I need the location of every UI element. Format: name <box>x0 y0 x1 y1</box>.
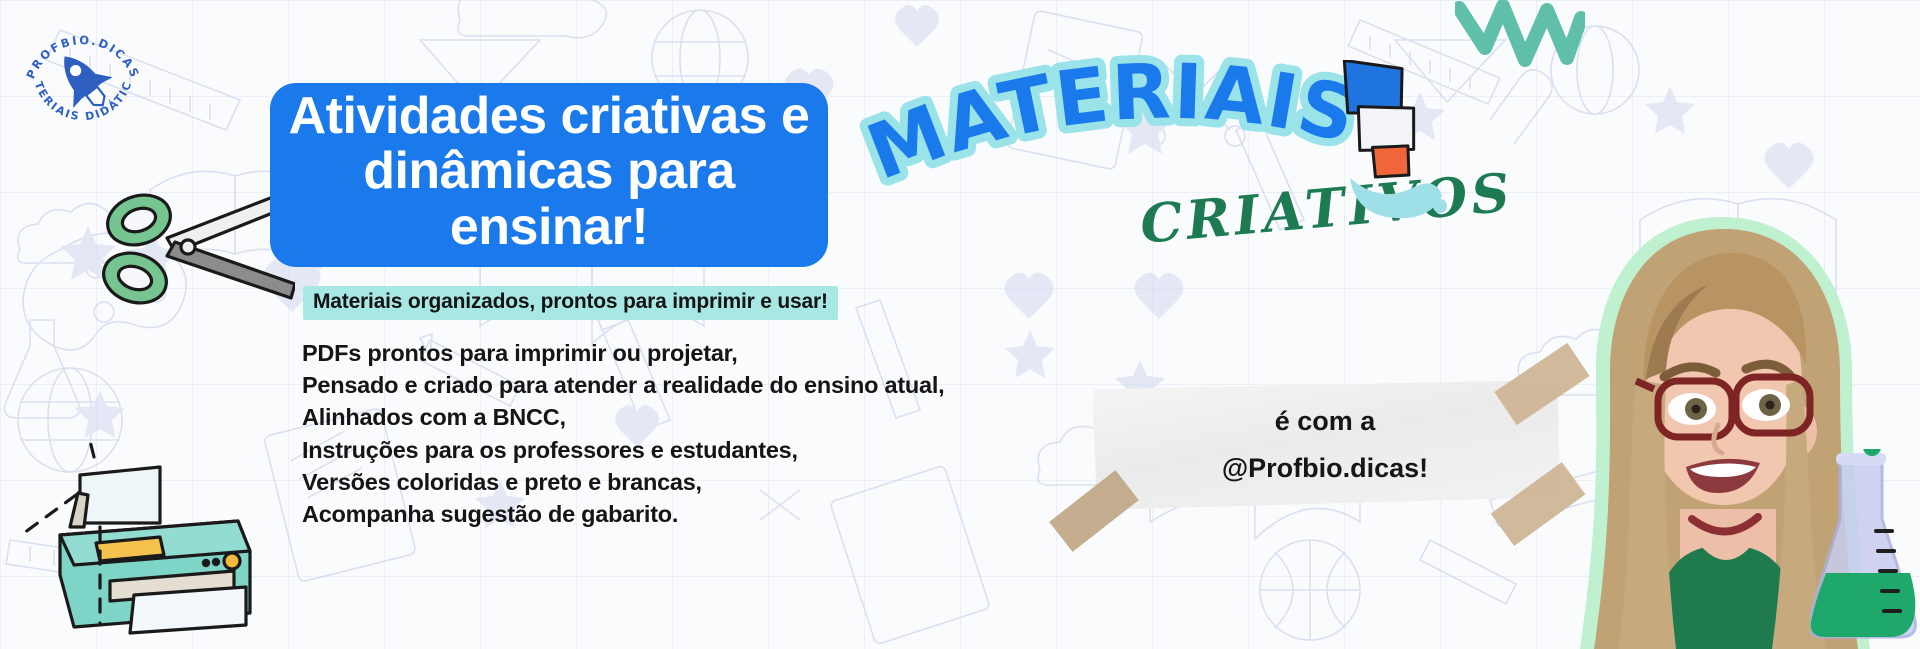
headline-line-3: ensinar! <box>289 200 810 256</box>
svg-text:MATERIAIS: MATERIAIS <box>856 46 1366 197</box>
erlenmeyer-flask-icon <box>1810 449 1920 649</box>
note-line-1: é com a <box>1275 406 1376 437</box>
list-item: Alinhados com a BNCC, <box>302 401 942 433</box>
note-text-block: é com a @Profbio.dicas! <box>1090 380 1560 510</box>
title-materiais-fill: MATERIAIS <box>856 46 1366 197</box>
glue-bottle-icon <box>1320 60 1450 220</box>
list-item: PDFs prontos para imprimir ou projetar, <box>302 337 942 369</box>
note-line-2: @Profbio.dicas! <box>1222 453 1428 484</box>
scissors-icon <box>95 160 295 310</box>
headline-line-2: dinâmicas para <box>289 144 810 200</box>
headline-box: Atividades criativas e dinâmicas para en… <box>270 83 828 267</box>
paper-note: é com a @Profbio.dicas! <box>1090 380 1560 510</box>
headline-text: Atividades criativas e dinâmicas para en… <box>289 89 810 256</box>
headline-line-1: Atividades criativas e <box>289 89 810 145</box>
promo-banner: PROFBIO.DICAS MATERIAIS DIDÁTICOS <box>0 0 1920 649</box>
printer-icon <box>18 375 268 640</box>
brand-logo[interactable]: PROFBIO.DICAS MATERIAIS DIDÁTICOS <box>18 18 148 138</box>
list-item: Pensado e criado para atender a realidad… <box>302 369 942 401</box>
subtitle-highlight: Materiais organizados, prontos para impr… <box>303 286 838 320</box>
list-item: Versões coloridas e preto e brancas, <box>302 466 942 498</box>
feature-list: PDFs prontos para imprimir ou projetar, … <box>302 337 942 530</box>
green-scribble-decor <box>1455 0 1585 120</box>
title-materiais: MATERIAIS MATERIAIS <box>885 48 1345 198</box>
list-item: Acompanha sugestão de gabarito. <box>302 498 942 530</box>
list-item: Instruções para os professores e estudan… <box>302 434 942 466</box>
